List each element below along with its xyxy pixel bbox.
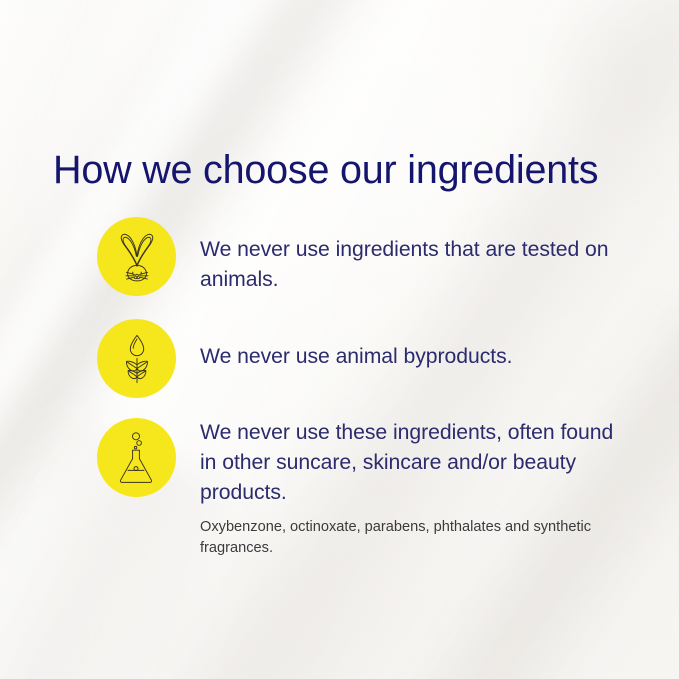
- fineprint-text: Oxybenzone, octinoxate, parabens, phthal…: [200, 517, 620, 559]
- list-item-text: We never use these ingredients, often fo…: [200, 418, 620, 559]
- infographic-canvas: How we choose our ingredients: [0, 0, 679, 679]
- statement-text: We never use animal byproducts.: [200, 342, 620, 372]
- list-item-text: We never use animal byproducts.: [200, 342, 620, 372]
- plant-droplet-icon: [116, 334, 158, 384]
- bunny-heart-ears-icon: [114, 232, 160, 282]
- badge-cruelty-free: [97, 217, 176, 296]
- badge-no-animal-byproducts: [97, 319, 176, 398]
- statement-text: We never use these ingredients, often fo…: [200, 418, 620, 508]
- page-title: How we choose our ingredients: [53, 150, 598, 191]
- erlenmeyer-flask-icon: [115, 432, 159, 484]
- content-layer: How we choose our ingredients: [0, 0, 679, 679]
- badge-no-harmful-ingredients: [97, 418, 176, 497]
- statement-text: We never use ingredients that are tested…: [200, 235, 620, 295]
- list-item-text: We never use ingredients that are tested…: [200, 235, 620, 295]
